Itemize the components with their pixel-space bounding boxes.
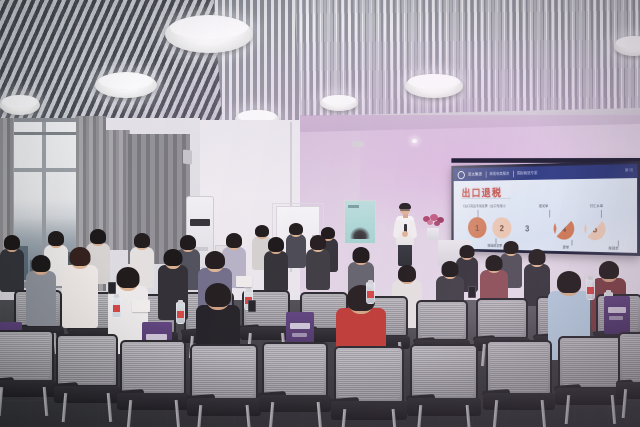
flower-arrangement	[420, 214, 446, 240]
flower-bloom	[427, 220, 433, 225]
presenter	[392, 204, 418, 266]
chair-backrest	[410, 344, 478, 400]
person-torso	[26, 271, 56, 326]
person-hair	[164, 249, 183, 266]
person-hair	[205, 251, 225, 269]
window-mullion-top	[4, 132, 78, 135]
person-hair	[4, 235, 20, 250]
bottle-label	[587, 287, 594, 294]
chair-backrest	[558, 336, 622, 389]
flow-label-bottom: 核销单	[608, 246, 618, 251]
conference-chair-front-7[interactable]	[486, 340, 552, 427]
ceiling-lamp-5	[320, 95, 358, 111]
bottle-label	[177, 311, 184, 318]
chair-seat	[616, 382, 640, 399]
bottle-cap	[606, 290, 611, 294]
flow-connector-bottom	[496, 238, 497, 244]
bottle-cap	[114, 294, 119, 298]
smoke-detector-icon	[352, 141, 364, 147]
bottle-label	[113, 305, 120, 312]
smartphone-2[interactable]	[108, 282, 116, 294]
conference-chair-front-0[interactable]	[0, 330, 54, 414]
conference-chair-front-2[interactable]	[120, 340, 186, 427]
attendee-woman-lace	[62, 248, 98, 328]
person-hair	[48, 231, 64, 246]
flow-label-top: 付汇水单	[590, 204, 603, 209]
smartphone-1[interactable]	[468, 286, 476, 298]
flow-label-bottom: 提单	[563, 245, 569, 250]
conference-chair-front-9[interactable]	[618, 332, 640, 416]
tote-print-line-2	[292, 333, 307, 337]
flow-connector-bottom	[572, 240, 573, 246]
tote-print-line-2	[609, 316, 623, 320]
slide-brand: 亚太集团	[468, 172, 482, 178]
person-hair	[529, 249, 546, 265]
wall-poster	[344, 200, 376, 244]
conference-chair-front-3[interactable]	[190, 344, 258, 427]
ceiling-lamp-6	[405, 74, 463, 98]
tote-bag-3[interactable]	[604, 296, 630, 334]
flow-node-4: 4	[554, 218, 575, 240]
tote-print-line	[290, 323, 310, 329]
conference-chair-front-5[interactable]	[334, 346, 404, 427]
person-hair	[289, 223, 303, 235]
poster-image	[350, 227, 370, 239]
presenter-legs	[398, 244, 412, 266]
person-hair	[134, 233, 150, 248]
wall-speaker-icon	[183, 150, 192, 165]
flow-label-top: 《出口商品专用发票（出口专用）》	[462, 204, 507, 209]
notepad-2[interactable]	[236, 276, 252, 287]
person-hair	[504, 241, 519, 254]
flow-node-5: 5	[584, 218, 605, 241]
chair-backrest	[618, 332, 640, 384]
person-hair	[460, 245, 475, 258]
conference-chair-front-6[interactable]	[410, 344, 478, 427]
flow-connector	[478, 210, 479, 217]
person-hair	[180, 235, 196, 250]
person-torso	[0, 249, 24, 292]
slide-page-number: 第7页	[625, 167, 633, 172]
ceiling-lamp-2	[95, 72, 157, 98]
person-hair	[90, 229, 106, 244]
spot-light-icon	[412, 139, 417, 143]
attendee-b-2	[286, 224, 306, 268]
person-hair	[255, 225, 269, 237]
conference-chair-front-4[interactable]	[262, 342, 328, 427]
flow-connector	[601, 210, 602, 218]
flow-connector-bottom	[618, 241, 619, 247]
slide-surface: 亚太集团 跨境电商服务 国际物流专家 第7页 出口退税 12345《出口商品专用…	[454, 164, 637, 253]
bottle-label	[367, 291, 374, 298]
flow-connector	[549, 210, 550, 218]
chair-backrest	[120, 340, 186, 395]
slide-flow-diagram: 12345《出口商品专用发票（出口专用）》报关单付汇水单增值税发票提单核销单	[460, 204, 631, 252]
attendee-man-grey	[26, 256, 56, 326]
water-bottle-2[interactable]	[176, 302, 185, 324]
chair-seat	[0, 380, 56, 397]
person-hair	[486, 255, 503, 271]
person-hair	[268, 237, 284, 252]
chair-backrest	[0, 330, 54, 382]
ceiling-lamp-1	[165, 15, 253, 53]
chair-backrest	[486, 340, 552, 395]
water-bottle-5[interactable]	[366, 282, 375, 304]
presentation-screen: 亚太集团 跨境电商服务 国际物流专家 第7页 出口退税 12345《出口商品专用…	[451, 161, 640, 256]
person-hair	[205, 283, 231, 307]
person-hair	[599, 261, 619, 279]
company-logo-icon	[458, 171, 465, 179]
person-hair	[557, 271, 581, 293]
person-hair	[398, 265, 416, 282]
smartphone-0[interactable]	[248, 300, 256, 312]
person-torso	[286, 234, 306, 268]
water-bottle-1[interactable]	[112, 296, 121, 318]
water-bottle-6[interactable]	[586, 278, 595, 300]
poster-caption	[348, 205, 359, 208]
presenter-hand	[402, 231, 408, 237]
slide-nav-1: 跨境电商服务	[489, 171, 509, 177]
chair-backrest	[416, 300, 468, 341]
flower-bloom	[434, 221, 440, 226]
slide-header-divider-2	[513, 170, 514, 177]
person-hair	[70, 247, 91, 266]
chair-backrest	[190, 344, 258, 400]
bottle-cap	[368, 280, 373, 284]
notepad-1[interactable]	[132, 300, 150, 312]
attendee-m-8	[306, 236, 330, 290]
conference-room-photo: 亚太集团 跨境电商服务 国际物流专家 第7页 出口退税 12345《出口商品专用…	[0, 0, 640, 427]
conference-chair-front-1[interactable]	[56, 334, 118, 420]
chair-backrest	[56, 334, 118, 387]
person-hair	[353, 247, 370, 263]
slide-nav-2: 国际物流专家	[517, 170, 538, 176]
person-hair	[117, 267, 140, 288]
tote-print-line	[146, 334, 167, 340]
person-hair	[226, 233, 242, 248]
person-hair	[442, 261, 459, 277]
person-hair	[310, 235, 326, 250]
chair-backrest	[334, 346, 404, 403]
person-hair	[32, 255, 51, 272]
tote-print-line	[608, 307, 626, 313]
conference-chair-front-8[interactable]	[558, 336, 622, 422]
flow-node-3: 3	[517, 217, 537, 239]
person-torso	[306, 249, 330, 290]
window-mullion-horizontal	[4, 168, 78, 172]
attendee-m-1	[0, 236, 24, 292]
flow-label-top: 报关单	[539, 204, 548, 209]
slide-title-rule	[462, 198, 511, 199]
attendee-m-7	[264, 238, 288, 292]
bottle-cap	[588, 276, 593, 280]
person-torso	[62, 265, 98, 328]
slide-header-divider	[485, 171, 486, 177]
person-torso	[264, 251, 288, 292]
flow-node-1: 1	[468, 217, 487, 238]
ac-vent	[190, 219, 210, 226]
ceiling-lamp-3	[0, 95, 40, 115]
chair-backrest	[262, 342, 328, 397]
presenter-glasses-icon	[400, 209, 410, 211]
bottle-cap	[178, 300, 183, 304]
flow-node-2: 2	[492, 217, 511, 238]
flower-vase	[427, 228, 439, 240]
chair-backrest	[476, 298, 528, 339]
